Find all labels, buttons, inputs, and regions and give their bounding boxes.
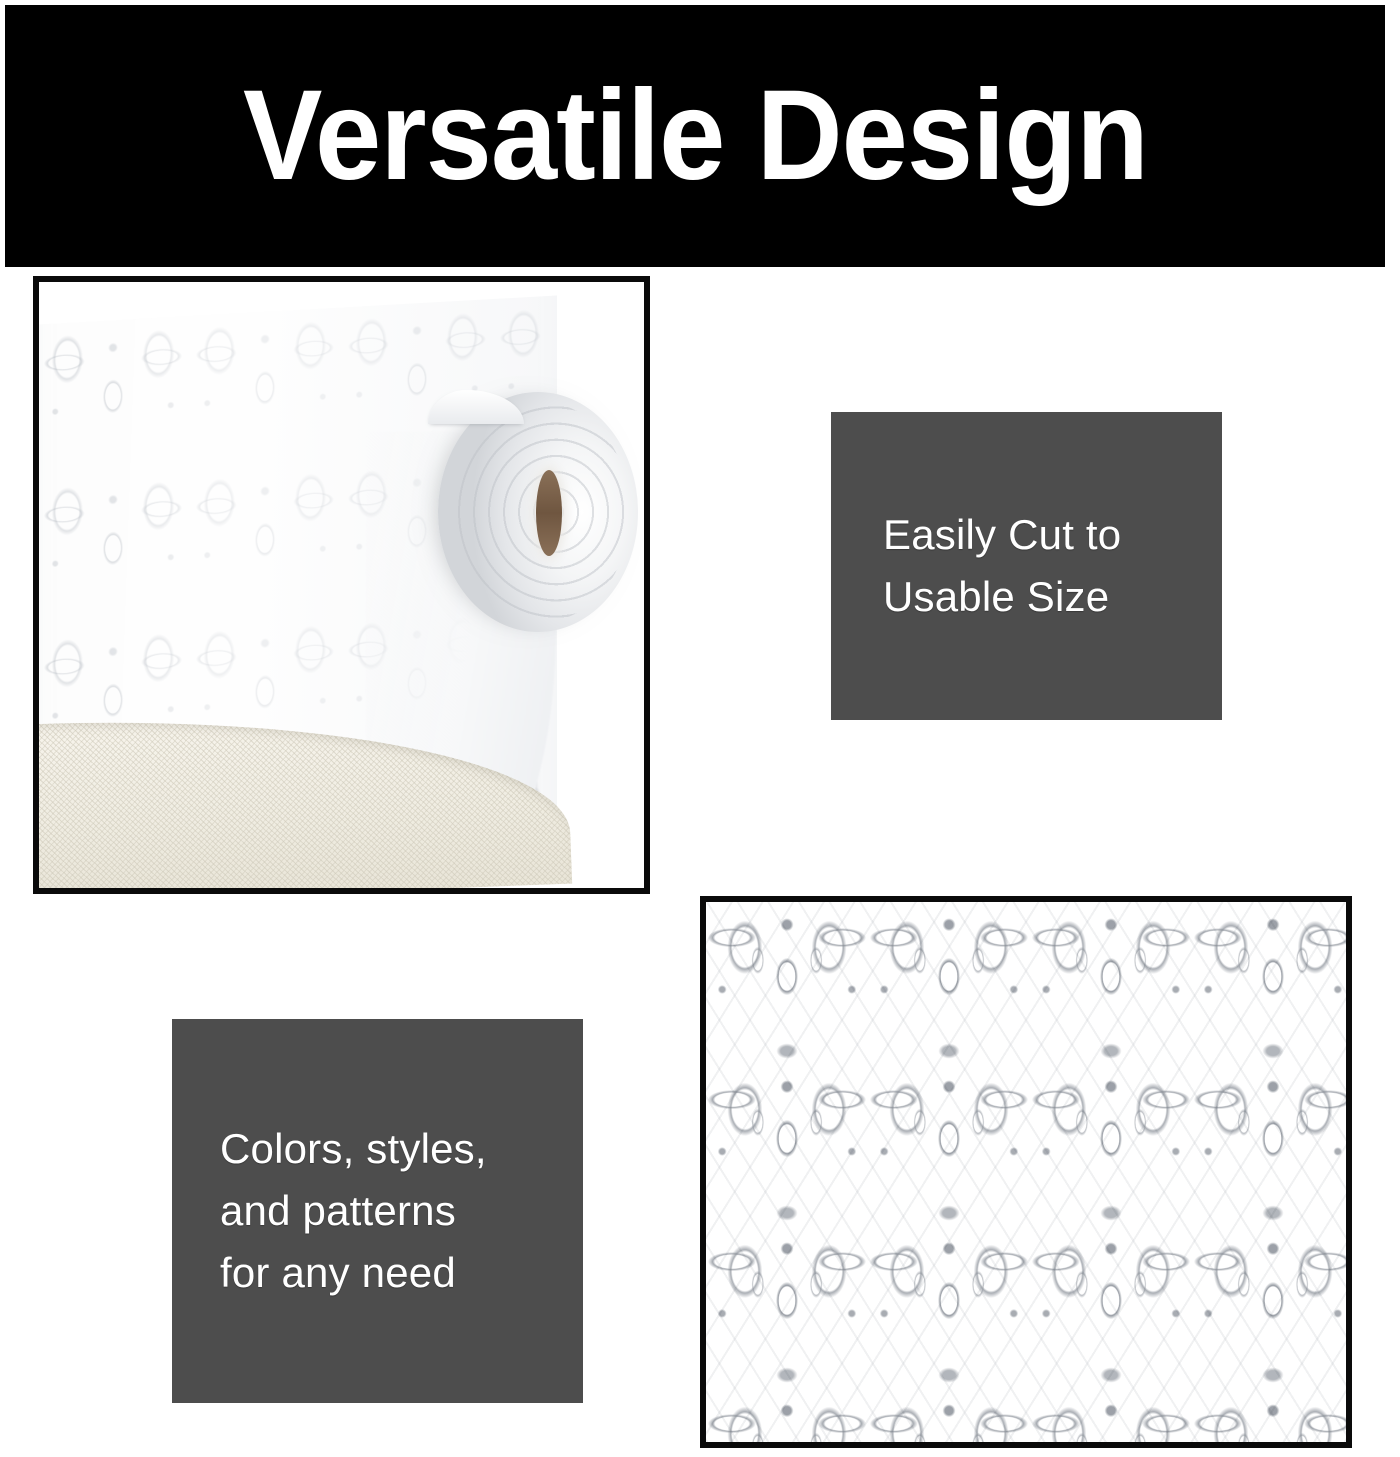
callout-colors-styles-line-1: Colors, styles,: [220, 1118, 583, 1180]
callout-colors-styles-line-3: for any need: [220, 1242, 583, 1304]
damask-pattern-overlay: [706, 902, 1346, 1442]
callout-easily-cut: Easily Cut to Usable Size: [831, 412, 1222, 720]
cardboard-core: [536, 470, 562, 556]
roll-photo-stage: [39, 282, 644, 888]
callout-easily-cut-line-2: Usable Size: [883, 566, 1222, 628]
callout-colors-styles: Colors, styles, and patterns for any nee…: [172, 1019, 583, 1403]
damask-pattern-fill: [706, 902, 1346, 1442]
product-roll-photo: [33, 276, 650, 894]
page-title: Versatile Design: [243, 72, 1148, 200]
damask-pattern-swatch: [700, 896, 1352, 1448]
callout-easily-cut-line-1: Easily Cut to: [883, 504, 1222, 566]
callout-colors-styles-line-2: and patterns: [220, 1180, 583, 1242]
header-banner: Versatile Design: [5, 5, 1385, 267]
